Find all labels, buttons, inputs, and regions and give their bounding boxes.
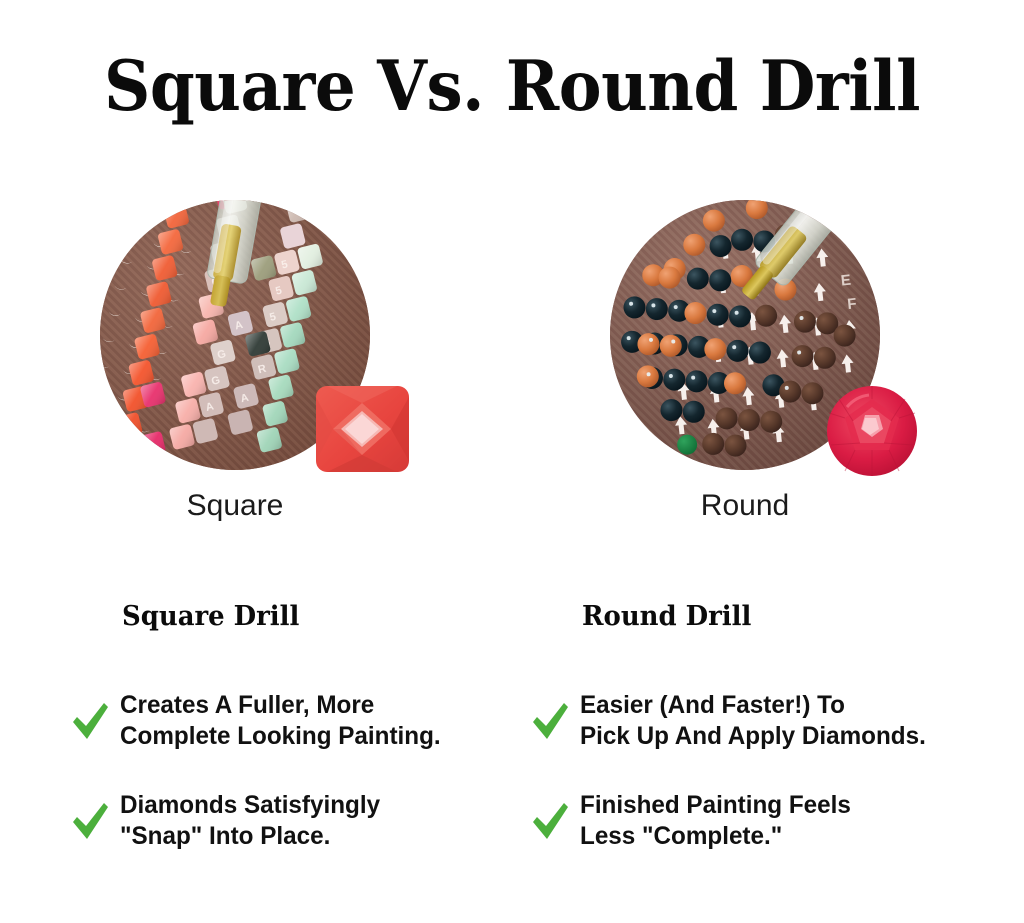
photo-comparison-row: GA5 GGA AR5 555 A	[0, 0, 1024, 540]
check-icon	[530, 798, 570, 844]
check-icon	[70, 698, 110, 744]
square-drill-photo-block: GA5 GGA AR5 555 A	[100, 200, 420, 490]
list-item: Diamonds Satisfyingly "Snap" Into Place.	[70, 790, 500, 852]
list-item: Creates A Fuller, More Complete Looking …	[70, 690, 500, 752]
round-bullet-1-text: Easier (And Faster!) To Pick Up And Appl…	[580, 690, 926, 752]
round-drill-photo-block: EF	[610, 200, 930, 490]
check-icon	[530, 698, 570, 744]
list-item: Easier (And Faster!) To Pick Up And Appl…	[530, 690, 960, 752]
round-photo-caption: Round	[610, 488, 880, 524]
round-bullet-2-text: Finished Painting Feels Less "Complete."	[580, 790, 851, 852]
round-drill-column: Round Drill Easier (And Faster!) To Pick…	[530, 600, 960, 890]
square-photo-caption: Square	[100, 488, 370, 524]
square-drill-gem	[315, 385, 410, 473]
round-drill-heading: Round Drill	[582, 600, 945, 634]
square-drill-column: Square Drill Creates A Fuller, More Comp…	[70, 600, 500, 890]
square-drill-heading: Square Drill	[122, 600, 485, 634]
square-bullet-2-text: Diamonds Satisfyingly "Snap" Into Place.	[120, 790, 380, 852]
square-bullet-1-text: Creates A Fuller, More Complete Looking …	[120, 690, 441, 752]
check-icon	[70, 798, 110, 844]
list-item: Finished Painting Feels Less "Complete."	[530, 790, 960, 852]
round-drill-gem	[825, 385, 920, 477]
